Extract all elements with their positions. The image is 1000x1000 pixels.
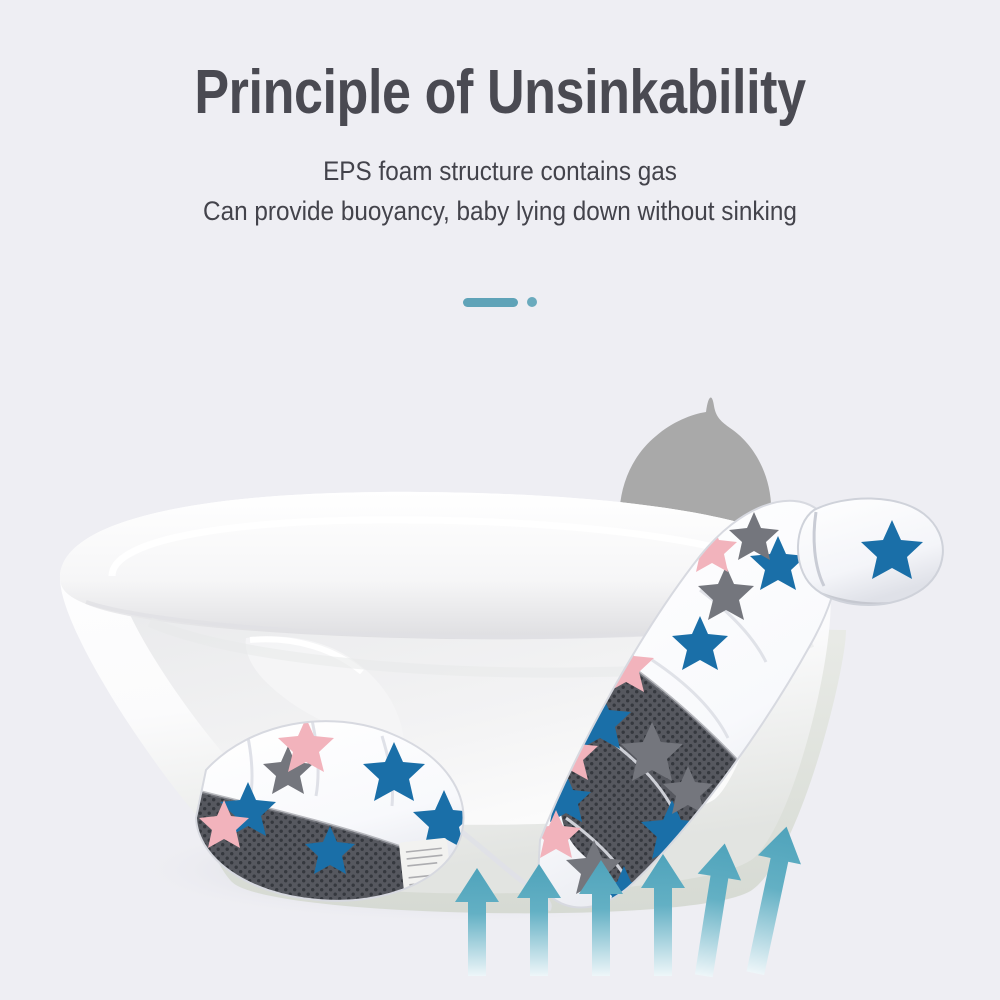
header: Principle of Unsinkability EPS foam stru…: [0, 0, 1000, 232]
section-divider: [0, 297, 1000, 307]
product-illustration: [0, 370, 1000, 1000]
subtitle-line-2: Can provide buoyancy, baby lying down wi…: [50, 192, 950, 232]
divider-bar: [463, 298, 518, 307]
page-title: Principle of Unsinkability: [80, 0, 920, 124]
page-subtitle: EPS foam structure contains gas Can prov…: [50, 124, 950, 232]
divider-dot: [527, 297, 537, 307]
page-root: Principle of Unsinkability EPS foam stru…: [0, 0, 1000, 1000]
subtitle-line-1: EPS foam structure contains gas: [50, 152, 950, 192]
